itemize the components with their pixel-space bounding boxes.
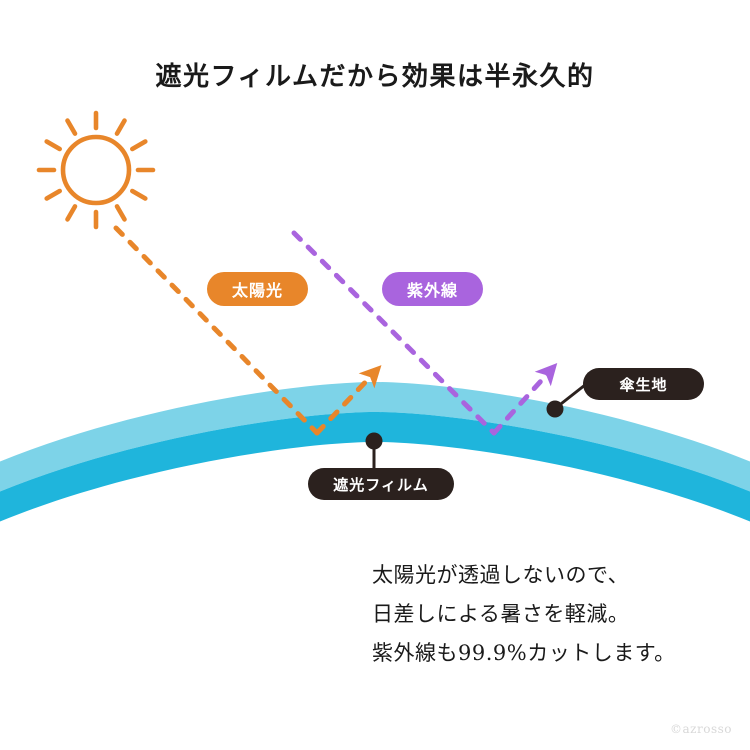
label-shading-film: 遮光フィルム (308, 468, 454, 500)
leader-dot-icon (366, 433, 383, 450)
description-line-1: 太陽光が透過しないので、 (372, 556, 676, 595)
description-line-3: 紫外線も99.9%カットします。 (372, 634, 676, 673)
label-uv: 紫外線 (382, 272, 483, 306)
label-sunlight: 太陽光 (207, 272, 308, 306)
film-callout-leader (366, 433, 383, 473)
description-line-2: 日差しによる暑さを軽減。 (372, 595, 676, 634)
watermark: ©azrosso (670, 722, 732, 736)
sun-icon (39, 113, 153, 227)
infographic-canvas: 遮光フィルムだから効果は半永久的 (0, 0, 750, 750)
label-umbrella-fabric: 傘生地 (583, 368, 704, 400)
leader-dot-icon (547, 401, 564, 418)
description-block: 太陽光が透過しないので、 日差しによる暑さを軽減。 紫外線も99.9%カットしま… (372, 556, 676, 673)
